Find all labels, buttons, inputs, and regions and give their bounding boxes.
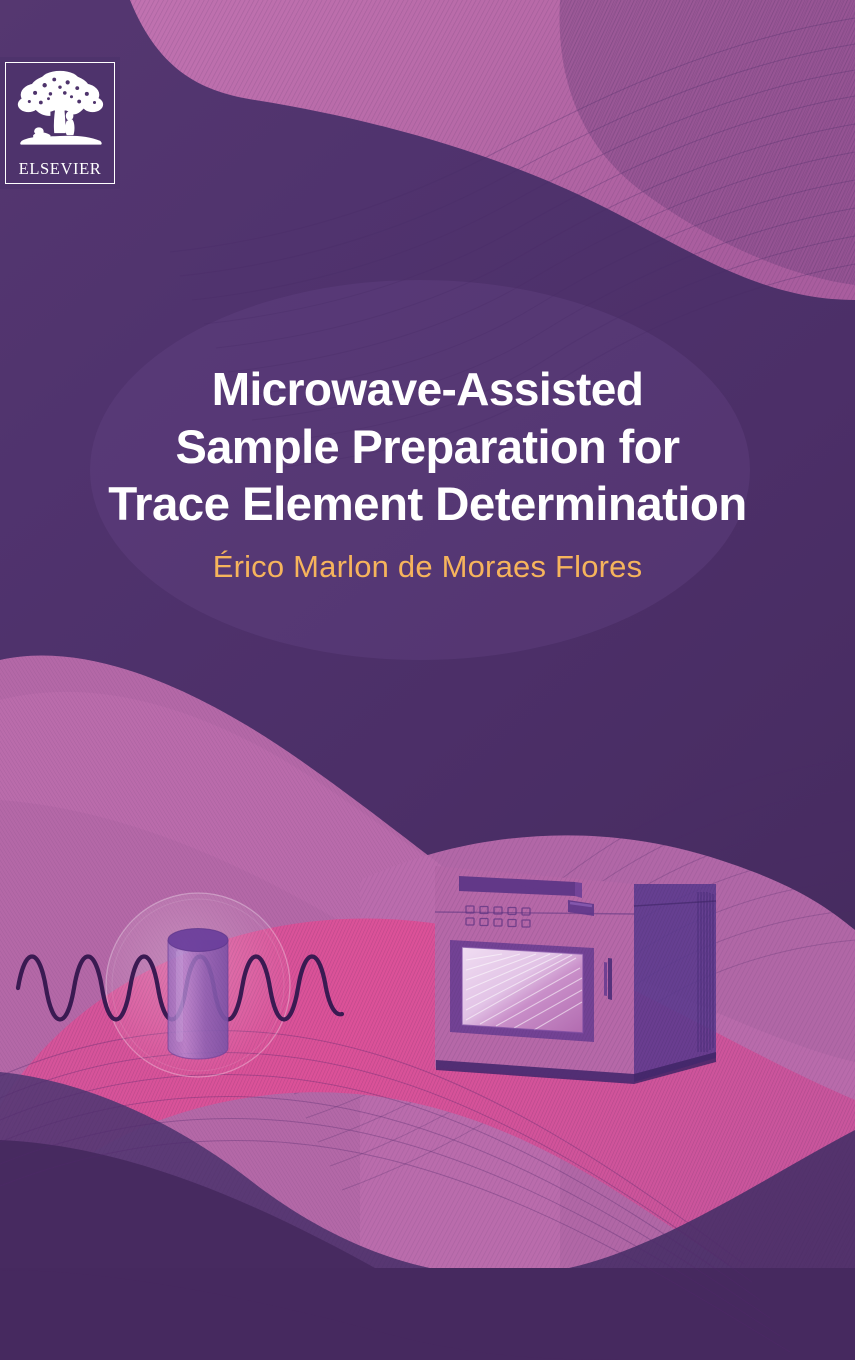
reaction-vessel [168,929,228,1060]
title-line-1: Microwave-Assisted [0,360,855,418]
book-cover: ELSEVIER Microwave-Assisted Sample Prepa… [0,0,855,1360]
elsevier-wordmark: ELSEVIER [19,161,102,178]
microwave-door-window [462,947,583,1033]
microwave-door-handle [604,958,612,1000]
logo-frame: ELSEVIER [5,62,115,184]
title-line-3: Trace Element Determination [0,476,855,534]
title-line-2: Sample Preparation for [0,418,855,476]
elsevier-tree-icon [12,68,108,160]
cover-artwork [0,0,855,1360]
microwave-oven-illustration [435,866,716,1084]
microwave-side-panel [634,884,716,1082]
author-name: Érico Marlon de Moraes Flores [0,548,855,586]
title-block: Microwave-Assisted Sample Preparation fo… [0,360,855,586]
elsevier-logo: ELSEVIER [0,57,120,189]
